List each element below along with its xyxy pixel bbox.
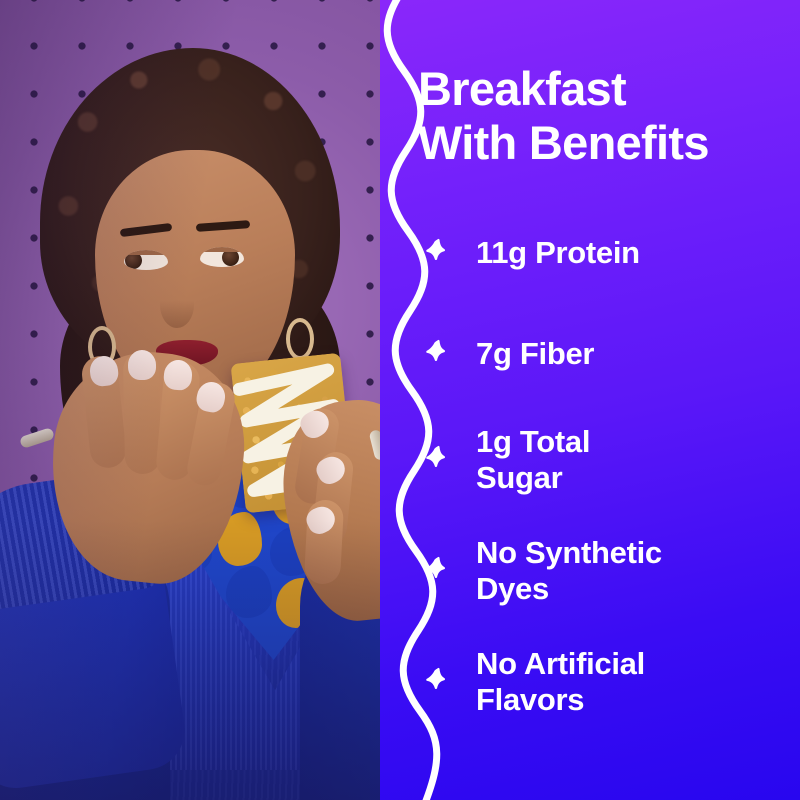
benefit-item-total-sugar: 1g Total Sugar bbox=[418, 424, 784, 496]
benefit-label: No Artificial Flavors bbox=[476, 646, 645, 718]
photo-vignette bbox=[0, 0, 430, 800]
benefit-item-fiber: 7g Fiber bbox=[418, 323, 784, 385]
benefit-label: 11g Protein bbox=[476, 235, 640, 271]
benefits-panel: Breakfast With Benefits 11g Protein 7g F… bbox=[380, 0, 800, 800]
benefit-item-no-synthetic-dyes: No Synthetic Dyes bbox=[418, 535, 784, 607]
sparkle-star-icon bbox=[422, 238, 452, 268]
page-title: Breakfast With Benefits bbox=[418, 62, 709, 169]
breakfast-with-benefits-ad: Breakfast With Benefits 11g Protein 7g F… bbox=[0, 0, 800, 800]
benefit-label: 7g Fiber bbox=[476, 336, 594, 372]
product-lifestyle-photo bbox=[0, 0, 430, 800]
benefit-item-no-artificial-flavors: No Artificial Flavors bbox=[418, 646, 784, 718]
benefit-item-protein: 11g Protein bbox=[418, 222, 784, 284]
sparkle-star-icon bbox=[422, 445, 452, 475]
sparkle-star-icon bbox=[422, 556, 452, 586]
benefit-label: No Synthetic Dyes bbox=[476, 535, 662, 607]
benefit-label: 1g Total Sugar bbox=[476, 424, 590, 496]
sparkle-star-icon bbox=[422, 339, 452, 369]
benefits-list: 11g Protein 7g Fiber 1g Total Sugar bbox=[418, 222, 784, 718]
sparkle-star-icon bbox=[422, 667, 452, 697]
